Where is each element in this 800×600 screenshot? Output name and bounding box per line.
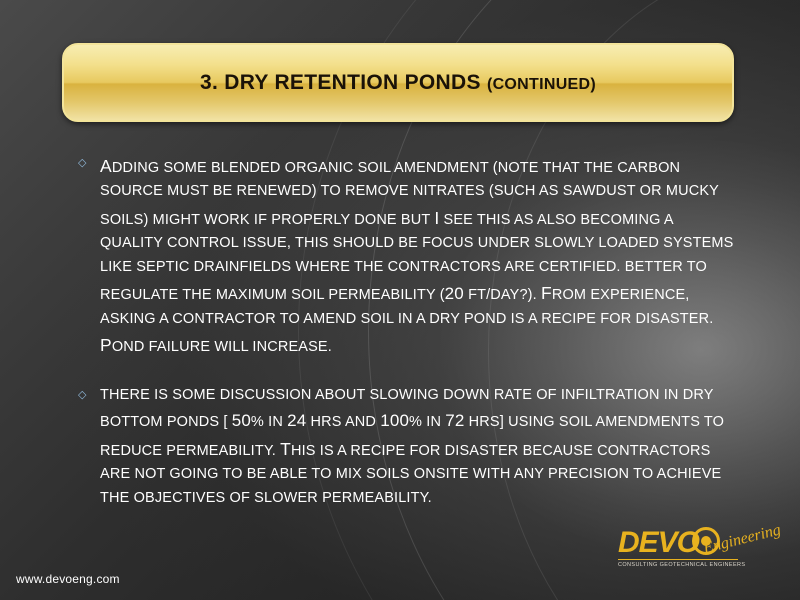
diamond-bullet-icon: ◇ <box>78 152 100 169</box>
list-item: ◇ THERE IS SOME DISCUSSION ABOUT SLOWING… <box>78 384 738 510</box>
slide-title-banner: 3. DRY RETENTION PONDS (CONTINUED) <box>62 43 734 122</box>
footer-website-url[interactable]: www.devoeng.com <box>16 572 120 586</box>
bullet-text-2: THERE IS SOME DISCUSSION ABOUT SLOWING D… <box>100 384 738 510</box>
page-title: 3. DRY RETENTION PONDS (CONTINUED) <box>200 71 596 95</box>
diamond-bullet-icon: ◇ <box>78 384 100 401</box>
logo-script-text: Engineering <box>702 521 783 558</box>
slide-title-main: 3. DRY RETENTION PONDS <box>200 71 487 94</box>
logo-tagline: CONSULTING GEOTECHNICAL ENGINEERS <box>618 562 746 568</box>
list-item: ◇ ADDING SOME BLENDED ORGANIC SOIL AMEND… <box>78 152 738 360</box>
bullet-text-1: ADDING SOME BLENDED ORGANIC SOIL AMENDME… <box>100 152 738 360</box>
logo-brand-text: DEVO <box>618 528 699 558</box>
slide-title-suffix: (CONTINUED) <box>487 76 596 93</box>
slide-canvas: 3. DRY RETENTION PONDS (CONTINUED) ◇ ADD… <box>0 0 800 600</box>
slide-body: ◇ ADDING SOME BLENDED ORGANIC SOIL AMEND… <box>78 152 738 534</box>
logo-divider <box>618 559 738 560</box>
devo-engineering-logo: DEVO Engineering CONSULTING GEOTECHNICAL… <box>618 526 782 582</box>
